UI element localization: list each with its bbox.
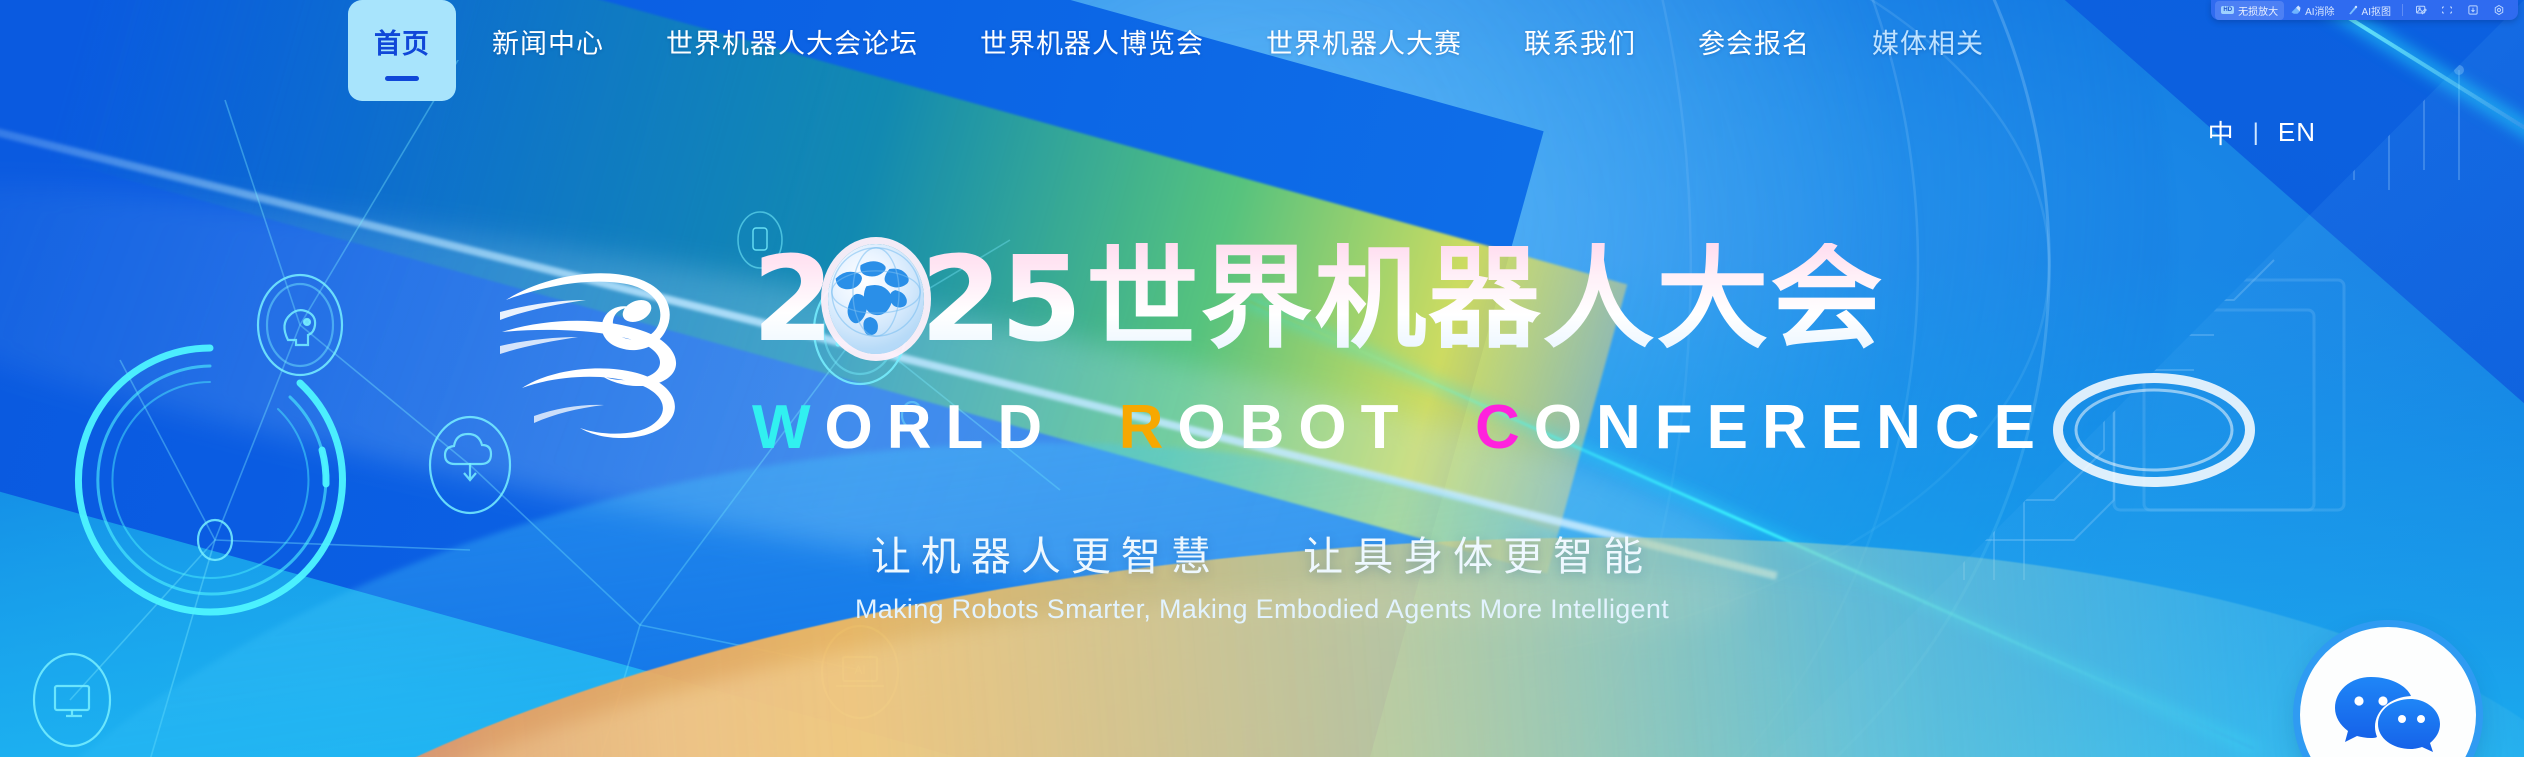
active-underline bbox=[385, 76, 419, 81]
ai-erase-label: AI消除 bbox=[2305, 3, 2334, 18]
settings-icon bbox=[2493, 4, 2505, 16]
upscale-label: 无损放大 bbox=[2238, 3, 2278, 18]
nav-item-robot-expo[interactable]: 世界机器人博览会 bbox=[980, 0, 1204, 61]
page-root: AI 首页 bbox=[0, 0, 2524, 757]
hero-tagline-en: Making Robots Smarter, Making Embodied A… bbox=[0, 594, 2524, 625]
lang-separator: | bbox=[2253, 119, 2260, 147]
letter-r: R bbox=[1119, 393, 1178, 462]
word-obot: OBOT bbox=[1177, 393, 1412, 462]
eraser-icon bbox=[2290, 4, 2302, 16]
nav-item-robot-contest[interactable]: 世界机器人大赛 bbox=[1266, 0, 1462, 61]
year-suffix: 25 bbox=[920, 240, 1080, 358]
wechat-icon bbox=[2333, 667, 2443, 757]
ai-erase-button[interactable]: AI消除 bbox=[2284, 1, 2340, 20]
lang-en[interactable]: EN bbox=[2278, 117, 2316, 148]
nav-item-contact-us[interactable]: 联系我们 bbox=[1524, 0, 1636, 61]
nav-item-label: 首页 bbox=[374, 29, 430, 59]
nav-item-home[interactable]: 首页 bbox=[348, 0, 456, 101]
word-onference: ONFERENCE bbox=[1534, 393, 2049, 462]
edit-image-button[interactable] bbox=[2408, 2, 2434, 18]
upscale-button[interactable]: HD 无损放大 bbox=[2215, 1, 2284, 20]
hero-section: 2 bbox=[0, 0, 2524, 757]
edit-image-icon bbox=[2415, 4, 2427, 16]
letter-c: C bbox=[1475, 393, 1534, 462]
tagline-part-2: 让具身体更智能 bbox=[1303, 535, 1653, 579]
nav-item-news-center[interactable]: 新闻中心 bbox=[492, 0, 604, 61]
wrc-bird-logo bbox=[500, 248, 730, 448]
main-navigation: 首页 新闻中心 世界机器人大会论坛 世界机器人博览会 世界机器人大赛 联系我们 … bbox=[0, 0, 2524, 96]
nav-item-registration[interactable]: 参会报名 bbox=[1698, 0, 1810, 61]
settings-button[interactable] bbox=[2486, 2, 2512, 18]
hero-subtitle-en: WORLD ROBOT CONFERENCE bbox=[752, 392, 2049, 463]
ai-cutout-label: AI抠图 bbox=[2362, 3, 2391, 18]
year-prefix: 2 bbox=[752, 240, 832, 358]
word-orld: ORLD bbox=[825, 393, 1057, 462]
image-tools-toolbar: HD 无损放大 AI消除 AI抠图 bbox=[2211, 0, 2518, 20]
toolbar-separator bbox=[2402, 4, 2403, 16]
letter-w: W bbox=[752, 393, 825, 462]
language-switcher: 中 | EN bbox=[2208, 114, 2316, 151]
hero-title: 2 bbox=[752, 240, 1884, 358]
ai-cutout-button[interactable]: AI抠图 bbox=[2341, 1, 2397, 20]
hero-tagline-cn: 让机器人更智慧 让具身体更智能 bbox=[0, 524, 2524, 582]
nav-item-conference-forum[interactable]: 世界机器人大会论坛 bbox=[666, 0, 918, 61]
nav-items: 首页 新闻中心 世界机器人大会论坛 世界机器人博览会 世界机器人大赛 联系我们 … bbox=[356, 0, 2046, 101]
download-button[interactable] bbox=[2460, 2, 2486, 18]
hero-title-cn: 世界机器人大会 bbox=[1086, 243, 1884, 355]
nav-item-media[interactable]: 媒体相关 bbox=[1872, 0, 1984, 61]
tagline-part-1: 让机器人更智慧 bbox=[871, 535, 1221, 579]
cutout-icon bbox=[2347, 4, 2359, 16]
crop-icon bbox=[2441, 4, 2453, 16]
crop-button[interactable] bbox=[2434, 2, 2460, 18]
globe-icon bbox=[828, 244, 924, 354]
lang-zh[interactable]: 中 bbox=[2208, 114, 2235, 151]
download-icon bbox=[2467, 4, 2479, 16]
hd-badge: HD bbox=[2221, 6, 2234, 14]
